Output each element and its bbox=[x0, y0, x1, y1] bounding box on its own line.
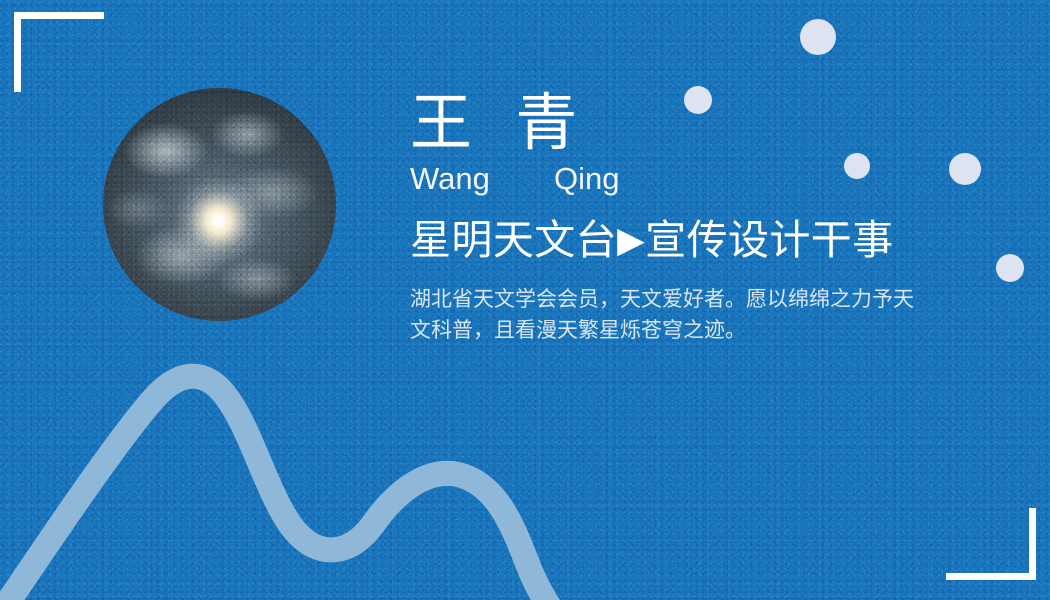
decorative-dot bbox=[800, 19, 836, 55]
bracket-horizontal-bar bbox=[14, 12, 104, 19]
photo-grain-overlay bbox=[103, 88, 336, 321]
moon-through-clouds-photo bbox=[103, 88, 336, 321]
profile-name-latin: WangQing bbox=[410, 162, 970, 196]
triangle-separator-icon: ▶ bbox=[617, 219, 645, 260]
corner-bracket-top-left bbox=[14, 12, 104, 92]
profile-givenname-latin: Qing bbox=[554, 161, 619, 196]
profile-organization: 星明天文台 bbox=[410, 217, 617, 263]
profile-bio: 湖北省天文学会会员，天文爱好者。愿以绵绵之力予天文科普，且看漫天繁星烁苍穹之迹。 bbox=[410, 284, 930, 346]
profile-text-block: 王青 WangQing 星明天文台▶宣传设计干事 湖北省天文学会会员，天文爱好者… bbox=[410, 90, 970, 346]
profile-role: 宣传设计干事 bbox=[645, 217, 893, 263]
mountain-wave-decoration bbox=[0, 355, 700, 600]
profile-name-chinese: 王青 bbox=[410, 90, 970, 158]
bracket-vertical-bar bbox=[1029, 508, 1036, 580]
decorative-dot bbox=[996, 254, 1024, 282]
profile-surname-latin: Wang bbox=[410, 162, 554, 196]
corner-bracket-bottom-right bbox=[946, 508, 1036, 580]
bracket-vertical-bar bbox=[14, 12, 21, 92]
slide-canvas: 王青 WangQing 星明天文台▶宣传设计干事 湖北省天文学会会员，天文爱好者… bbox=[0, 0, 1050, 600]
profile-role-line: 星明天文台▶宣传设计干事 bbox=[410, 216, 970, 264]
bracket-horizontal-bar bbox=[946, 573, 1036, 580]
